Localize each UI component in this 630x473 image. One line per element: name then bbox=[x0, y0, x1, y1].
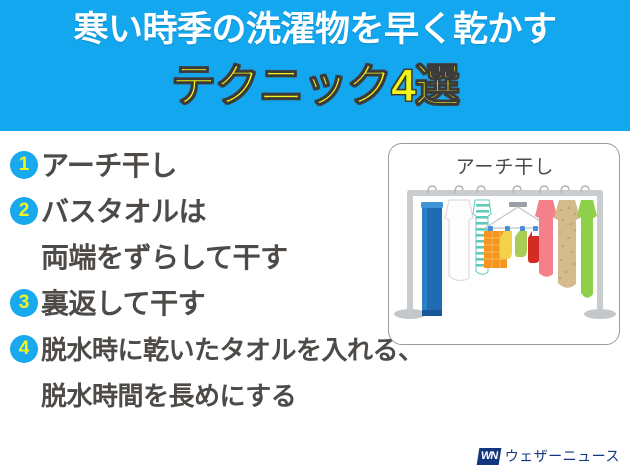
number-badge-2: 2 bbox=[10, 197, 38, 225]
number-badge-4: 4 bbox=[10, 335, 38, 363]
list-item: 4 脱水時に乾いたタオルを入れる、 bbox=[10, 330, 390, 370]
header-banner: 寒い時季の洗濯物を早く乾かす テクニック4選 bbox=[0, 0, 630, 131]
tip-text-1-line1: アーチ干し bbox=[41, 146, 390, 186]
list-item-continuation: 両端をずらして干す bbox=[10, 238, 390, 278]
tip-text-4-line2: 脱水時間を長めにする bbox=[41, 376, 390, 416]
weathernews-logo: WN ウェザーニュース bbox=[478, 446, 620, 466]
arch-drying-illustration bbox=[389, 180, 620, 345]
garment-yellow-sock bbox=[500, 231, 512, 259]
logo-text: ウェザーニュース bbox=[505, 446, 620, 466]
header-title-line1: 寒い時季の洗濯物を早く乾かす bbox=[0, 8, 630, 52]
illustration-title: アーチ干し bbox=[389, 152, 620, 179]
list-item: 2 バスタオルは bbox=[10, 192, 390, 232]
garment-green-top bbox=[577, 200, 597, 298]
list-item: 1 アーチ干し bbox=[10, 146, 390, 186]
wn-logo-mark-icon: WN bbox=[476, 448, 501, 465]
tip-text-4-line1: 脱水時に乾いたタオルを入れる、 bbox=[41, 330, 424, 370]
garment-red-sock bbox=[528, 231, 540, 263]
number-badge-1: 1 bbox=[10, 151, 38, 179]
garment-beige-dotted-top bbox=[554, 200, 580, 288]
tip-text-3-line1: 裏返して干す bbox=[41, 284, 390, 324]
garment-blue-bath-towel bbox=[421, 202, 443, 316]
tip-text-2-line2: 両端をずらして干す bbox=[41, 238, 390, 278]
tip-text-2-line1: バスタオルは bbox=[41, 192, 390, 232]
garment-white-shirt bbox=[445, 200, 473, 281]
main-content: 1 アーチ干し 2 バスタオルは 両端をずらして干す 3 裏返して干す 4 脱水… bbox=[0, 131, 630, 473]
illustration-panel: アーチ干し bbox=[388, 143, 620, 345]
list-item-continuation: 脱水時間を長めにする bbox=[10, 376, 390, 416]
list-item: 3 裏返して干す bbox=[10, 284, 390, 324]
header-title-line2: テクニック4選 bbox=[0, 58, 630, 114]
number-badge-3: 3 bbox=[10, 289, 38, 317]
garment-green-sock bbox=[515, 231, 527, 257]
wn-logo-letters: WN bbox=[476, 448, 501, 465]
tips-list: 1 アーチ干し 2 バスタオルは 両端をずらして干す 3 裏返して干す 4 脱水… bbox=[10, 146, 390, 422]
